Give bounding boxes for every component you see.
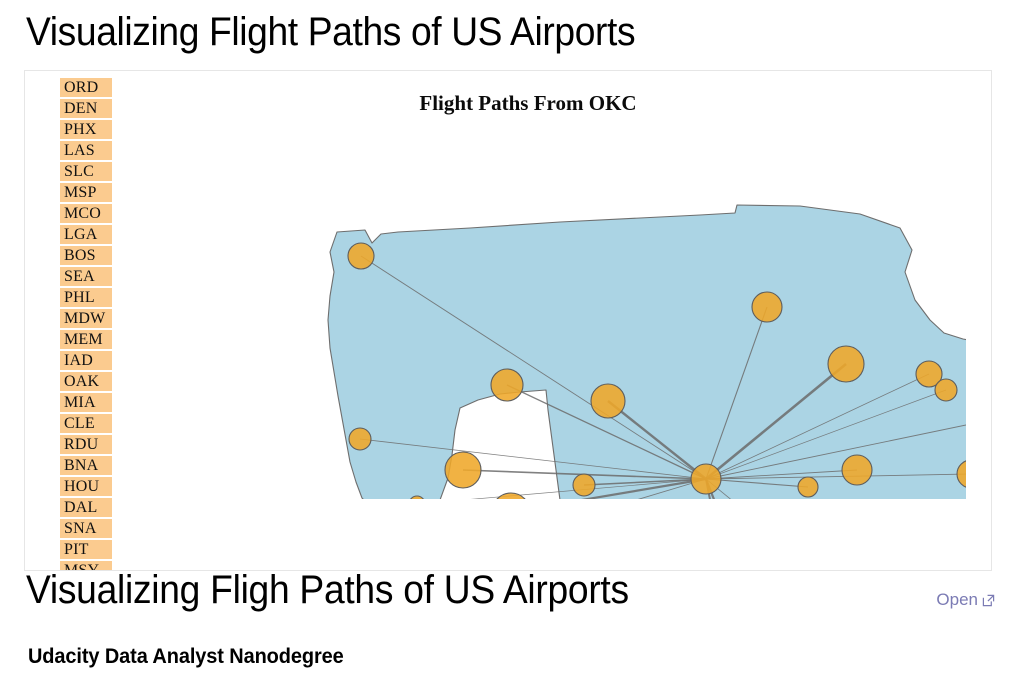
external-link-icon: [982, 594, 995, 607]
us-landmass: [328, 205, 991, 570]
airport-node-slc[interactable]: [491, 369, 523, 401]
airport-list-item[interactable]: PIT: [60, 540, 112, 559]
airport-list-item[interactable]: SNA: [60, 519, 112, 538]
airport-node-sna[interactable]: [512, 523, 534, 545]
airport-list-item[interactable]: PHX: [60, 120, 112, 139]
airport-list-item[interactable]: MSY: [60, 561, 112, 571]
airport-node-mem[interactable]: [798, 477, 818, 497]
airport-node-bna[interactable]: [842, 455, 872, 485]
airport-list-item[interactable]: MSP: [60, 183, 112, 202]
airport-node-msy[interactable]: [798, 552, 826, 570]
open-link-label: Open: [936, 590, 978, 610]
airport-node-msp[interactable]: [752, 292, 782, 322]
airport-node-phx[interactable]: [573, 474, 595, 496]
airport-node-sfo[interactable]: [349, 428, 371, 450]
airport-list-item[interactable]: RDU: [60, 435, 112, 454]
airport-list-item[interactable]: BOS: [60, 246, 112, 265]
airport-list-item[interactable]: LGA: [60, 225, 112, 244]
airport-list-item[interactable]: ORD: [60, 78, 112, 97]
airport-node-dal[interactable]: [708, 514, 720, 526]
airport-selector-list[interactable]: ORD DEN PHX LAS SLC MSP MCO LGA BOS SEA …: [60, 78, 112, 571]
airport-node-hou[interactable]: [727, 553, 753, 570]
airport-node-okc-origin[interactable]: [691, 464, 721, 494]
airport-list-item[interactable]: LAS: [60, 141, 112, 160]
airport-list-item[interactable]: HOU: [60, 477, 112, 496]
airport-list-item[interactable]: SEA: [60, 267, 112, 286]
airport-node-ord[interactable]: [828, 346, 864, 382]
airport-list-item[interactable]: PHL: [60, 288, 112, 307]
airport-node-oak[interactable]: [409, 496, 425, 512]
airport-list-item[interactable]: OAK: [60, 372, 112, 391]
airport-node-iad[interactable]: [973, 406, 991, 434]
airport-list-item[interactable]: DEN: [60, 99, 112, 118]
page-title: Visualizing Flight Paths of US Airports: [26, 8, 635, 56]
airport-node-mco[interactable]: [957, 460, 985, 488]
airport-list-item[interactable]: MCO: [60, 204, 112, 223]
visualization-frame: Flight Paths From OKC ORD DEN PHX LAS SL…: [24, 70, 992, 571]
airport-node-pit[interactable]: [935, 379, 957, 401]
airport-list-item[interactable]: CLE: [60, 414, 112, 433]
airport-list-item[interactable]: BNA: [60, 456, 112, 475]
airport-node-den[interactable]: [591, 384, 625, 418]
airport-list-item[interactable]: MIA: [60, 393, 112, 412]
airport-list-item[interactable]: IAD: [60, 351, 112, 370]
airport-node-lax[interactable]: [492, 493, 530, 531]
airport-list-item[interactable]: SLC: [60, 162, 112, 181]
airport-node-sea[interactable]: [348, 243, 374, 269]
open-link[interactable]: Open: [936, 590, 995, 610]
airport-list-item[interactable]: MEM: [60, 330, 112, 349]
airport-node-las[interactable]: [445, 452, 481, 488]
caption-title: Visualizing Fligh Paths of US Airports: [26, 566, 629, 614]
airport-list-item[interactable]: MDW: [60, 309, 112, 328]
flight-map[interactable]: [25, 71, 991, 570]
chart-title: Flight Paths From OKC: [25, 91, 991, 116]
subtitle: Udacity Data Analyst Nanodegree: [28, 645, 344, 669]
airport-list-item[interactable]: DAL: [60, 498, 112, 517]
